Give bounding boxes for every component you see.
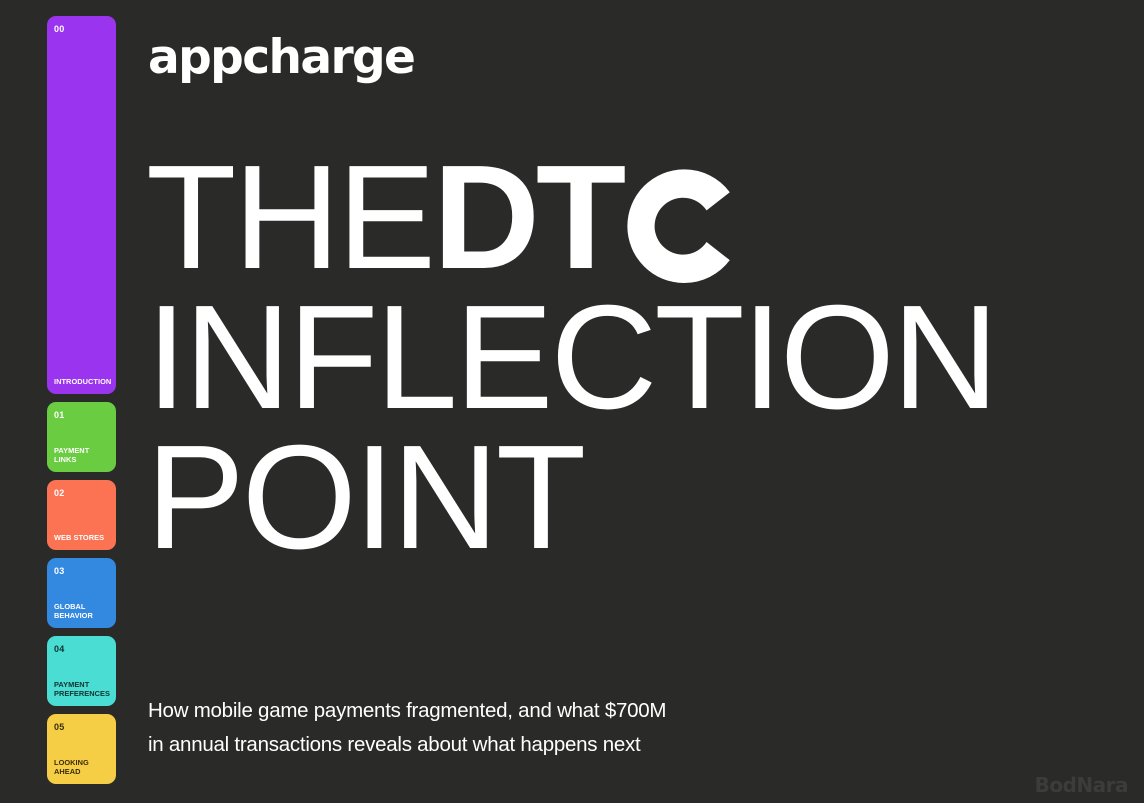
chapter-number: 05 [54,723,109,732]
bodnara-watermark: BodNara [1035,773,1128,797]
chapter-label: PAYMENT PREFERENCES [54,680,109,698]
page-title: THEDT INFLECTION POINT [146,149,996,566]
sidebar-chapter-04[interactable]: 04PAYMENT PREFERENCES [47,636,116,706]
headline-c-glyph-icon [625,167,743,285]
chapter-label: GLOBAL BEHAVIOR [54,602,109,620]
chapter-number: 01 [54,411,109,420]
chapter-sidebar: 00INTRODUCTION01PAYMENT LINKS02WEB STORE… [0,0,116,803]
chapter-label: INTRODUCTION [54,377,109,386]
chapter-label: WEB STORES [54,533,109,542]
subtitle: How mobile game payments fragmented, and… [148,694,666,762]
chapter-number: 02 [54,489,109,498]
chapter-label: PAYMENT LINKS [54,446,109,464]
chapter-number: 03 [54,567,109,576]
chapter-number: 00 [54,25,109,34]
sidebar-chapter-01[interactable]: 01PAYMENT LINKS [47,402,116,472]
sidebar-chapter-03[interactable]: 03GLOBAL BEHAVIOR [47,558,116,628]
sidebar-chapter-00[interactable]: 00INTRODUCTION [47,16,116,394]
headline-line-2: INFLECTION [146,289,996,427]
chapter-label: LOOKING AHEAD [54,758,109,776]
headline-line-1: THEDT [146,149,996,287]
subtitle-line-1: How mobile game payments fragmented, and… [148,694,666,728]
slide-main-content: appcharge THEDT INFLECTION POINT How mob… [116,0,1144,803]
appcharge-logo: appcharge [148,34,414,81]
sidebar-chapter-02[interactable]: 02WEB STORES [47,480,116,550]
headline-line-3: POINT [146,429,996,567]
presentation-slide: 00INTRODUCTION01PAYMENT LINKS02WEB STORE… [0,0,1144,803]
sidebar-chapter-05[interactable]: 05LOOKING AHEAD [47,714,116,784]
subtitle-line-2: in annual transactions reveals about wha… [148,728,666,762]
chapter-number: 04 [54,645,109,654]
